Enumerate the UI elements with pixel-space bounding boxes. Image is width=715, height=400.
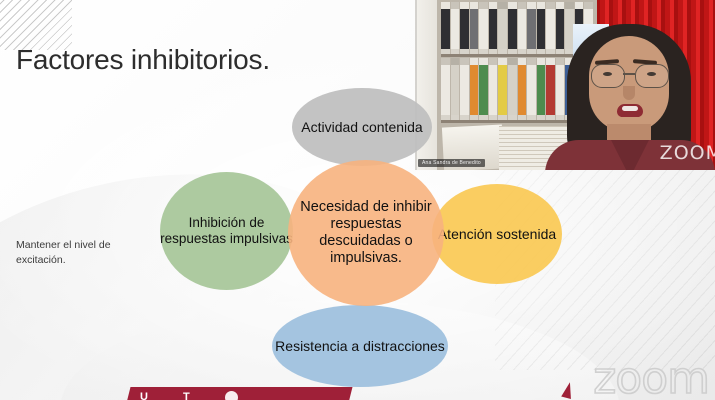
zoom-meeting-screenshot: Factores inhibitorios. Mantener el nivel…	[0, 0, 715, 400]
zoom-watermark: zoom	[593, 353, 709, 400]
venn-ellipse-bottom-label: Resistencia a distracciones	[272, 338, 448, 354]
venn-ellipse-top-label: Actividad contenida	[292, 119, 432, 135]
participant-video-tile[interactable]: Ana Sandra de Benedito ZOOM	[415, 0, 715, 170]
venn-ellipse-right-label: Atención sostenida	[432, 226, 562, 242]
venn-ellipse-bottom: Resistencia a distracciones	[272, 305, 448, 387]
venn-ellipse-left-label: Inhibición de respuestas impulsivas	[160, 215, 293, 246]
participant-nose	[623, 86, 635, 100]
zoom-brand-label: ZOOM	[660, 142, 715, 164]
banner-seal-icon	[225, 391, 238, 400]
banner-logo-left: U	[140, 391, 149, 400]
institution-banner: U T	[126, 387, 353, 400]
venn-ellipse-top: Actividad contenida	[292, 88, 432, 166]
venn-ellipse-center: Necesidad de inhibir respuestas descuida…	[288, 160, 444, 306]
venn-ellipse-right: Atención sostenida	[432, 184, 562, 284]
venn-ellipse-center-label: Necesidad de inhibir respuestas descuida…	[288, 199, 444, 266]
slide-side-note: Mantener el nivel de excitación.	[16, 238, 126, 268]
participant-mouth	[617, 104, 643, 117]
slide-title: Factores inhibitorios.	[16, 44, 270, 76]
participant-name-label: Ana Sandra de Benedito	[418, 159, 485, 167]
eyeglasses-icon	[587, 64, 673, 88]
banner-logo-mid: T	[183, 391, 191, 400]
bookshelf-row	[441, 2, 593, 57]
slide-decoration-hairlines-topleft	[0, 0, 72, 50]
venn-ellipse-left: Inhibición de respuestas impulsivas	[160, 172, 293, 290]
